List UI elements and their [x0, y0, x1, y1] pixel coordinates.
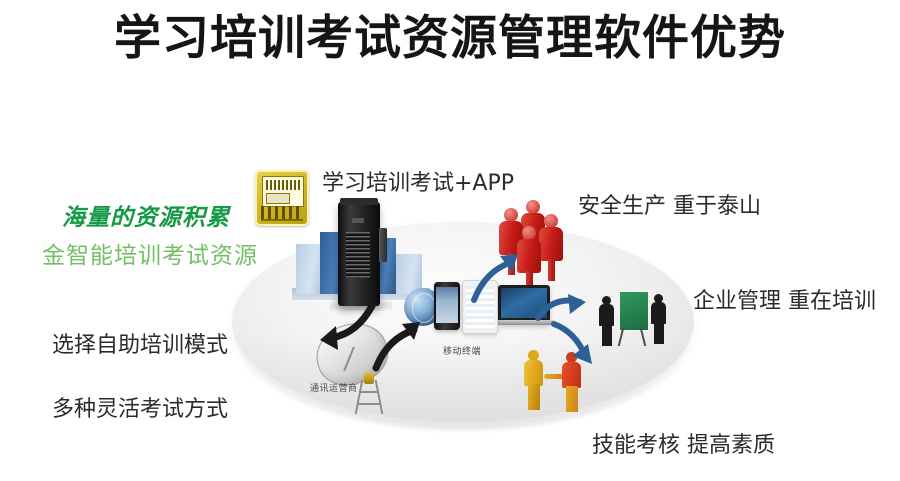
gold-icon-base [261, 206, 303, 221]
resource-accumulation-label: 海量的资源积累 [62, 198, 230, 232]
gold-resource-icon [255, 170, 309, 226]
server-vents [346, 232, 370, 278]
trainee-silhouette [654, 294, 663, 303]
satellite-tower [356, 380, 382, 414]
building-1 [296, 244, 322, 294]
skill-assessment-label: 技能考核 提高素质 [592, 427, 775, 459]
self-training-mode-label: 选择自助培训模式 [52, 327, 228, 359]
gold-icon-screen [262, 176, 304, 207]
phone-screen [436, 287, 458, 323]
server-side-panel [379, 228, 387, 262]
server-rack-icon [338, 202, 380, 306]
trainer-silhouette [602, 296, 611, 305]
server-led [352, 218, 364, 223]
smartphone-icon [434, 282, 460, 330]
arrow-devices-to-people [468, 250, 528, 306]
person-red-front [522, 226, 536, 240]
mobile-terminal-label: 移动终端 [443, 344, 481, 357]
person-red-back-2 [504, 208, 518, 222]
learning-app-label: 学习培训考试+APP [322, 165, 514, 197]
safety-production-label: 安全生产 重于泰山 [578, 188, 761, 220]
whiteboard-panel [618, 290, 650, 332]
person-yellow [528, 350, 539, 361]
page-title: 学习培训考试资源管理软件优势 [0, 8, 900, 70]
enterprise-management-label: 企业管理 重在培训 [693, 283, 876, 315]
person-red-back-3 [544, 214, 558, 228]
arrow-to-handshake [548, 318, 604, 366]
smart-training-resource-label: 金智能培训考试资源 [42, 236, 258, 270]
whiteboard-legs [616, 328, 648, 346]
server-top [340, 198, 378, 205]
arrow-satellite-to-devices [368, 320, 428, 380]
training-whiteboard-icon [592, 284, 678, 364]
slide-canvas: 学习培训考试资源管理软件优势 通讯运营商 [0, 0, 900, 481]
person-red-back-1 [526, 200, 540, 214]
flexible-exam-mode-label: 多种灵活考试方式 [52, 391, 228, 423]
telecom-operator-label: 通讯运营商 [310, 381, 358, 394]
